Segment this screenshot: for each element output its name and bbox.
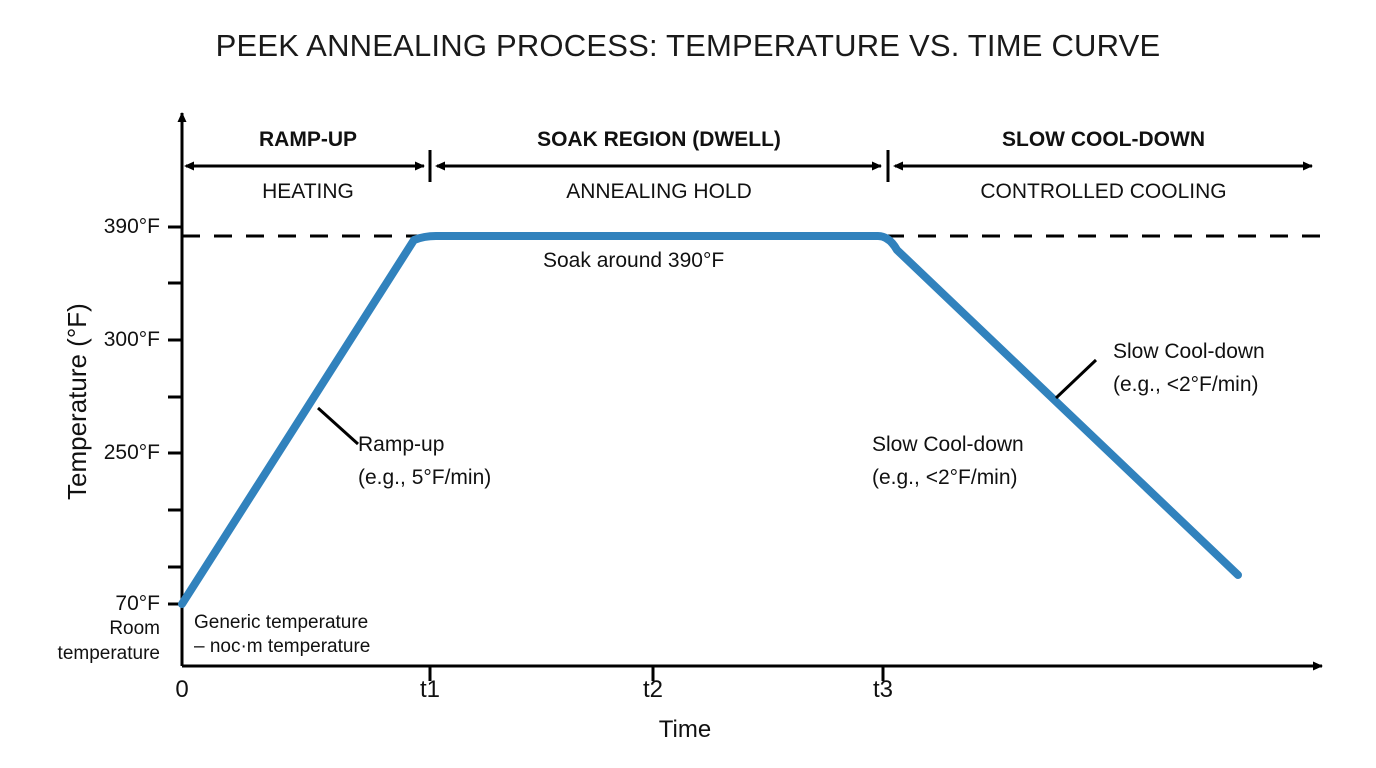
y-axis-ticks — [168, 227, 182, 604]
x-tick-label-0: 0 — [152, 676, 212, 704]
band-label-soak-bottom: ANNEALING HOLD — [437, 180, 881, 205]
annotation-cooldown-left-line1: Slow Cool-down — [872, 433, 1024, 458]
cooldown-leader-line — [1056, 360, 1096, 398]
y-tick-label-250: 250°F — [8, 441, 160, 466]
annotation-cooldown-right-line1: Slow Cool-down — [1113, 340, 1265, 365]
annotation-generic-line2: – noc·m temperature — [194, 636, 370, 658]
annotation-cooldown-left-line2: (e.g., <2°F/min) — [872, 466, 1018, 491]
y-tick-label-70: 70°F — [8, 592, 160, 617]
band-label-soak-top: SOAK REGION (DWELL) — [437, 128, 881, 153]
phase-band-arrows — [186, 150, 1312, 182]
temperature-curve — [182, 236, 1238, 604]
band-label-rampup-top: RAMP-UP — [186, 128, 430, 153]
annotation-rampup-line2: (e.g., 5°F/min) — [358, 466, 491, 491]
x-axis-title: Time — [630, 716, 740, 744]
band-label-cooldown-bottom: CONTROLLED COOLING — [895, 180, 1312, 205]
room-temperature-note-line1: Room — [8, 618, 160, 640]
band-label-cooldown-top: SLOW COOL-DOWN — [895, 128, 1312, 153]
annotation-cooldown-right-line2: (e.g., <2°F/min) — [1113, 373, 1259, 398]
rampup-leader-line — [318, 408, 358, 444]
annotation-soak: Soak around 390°F — [543, 249, 724, 274]
x-tick-label-t2: t2 — [623, 676, 683, 704]
page-title: PEEK ANNEALING PROCESS: TEMPERATURE VS. … — [0, 28, 1376, 65]
y-tick-label-390: 390°F — [8, 215, 160, 240]
y-tick-label-300: 300°F — [8, 328, 160, 353]
x-tick-label-t3: t3 — [853, 676, 913, 704]
room-temperature-note-line2: temperature — [0, 643, 160, 665]
annotation-rampup-line1: Ramp-up — [358, 433, 444, 458]
chart-canvas: PEEK ANNEALING PROCESS: TEMPERATURE VS. … — [0, 0, 1376, 768]
band-label-rampup-bottom: HEATING — [186, 180, 430, 205]
x-tick-label-t1: t1 — [400, 676, 460, 704]
annotation-generic-line1: Generic temperature — [194, 612, 368, 634]
